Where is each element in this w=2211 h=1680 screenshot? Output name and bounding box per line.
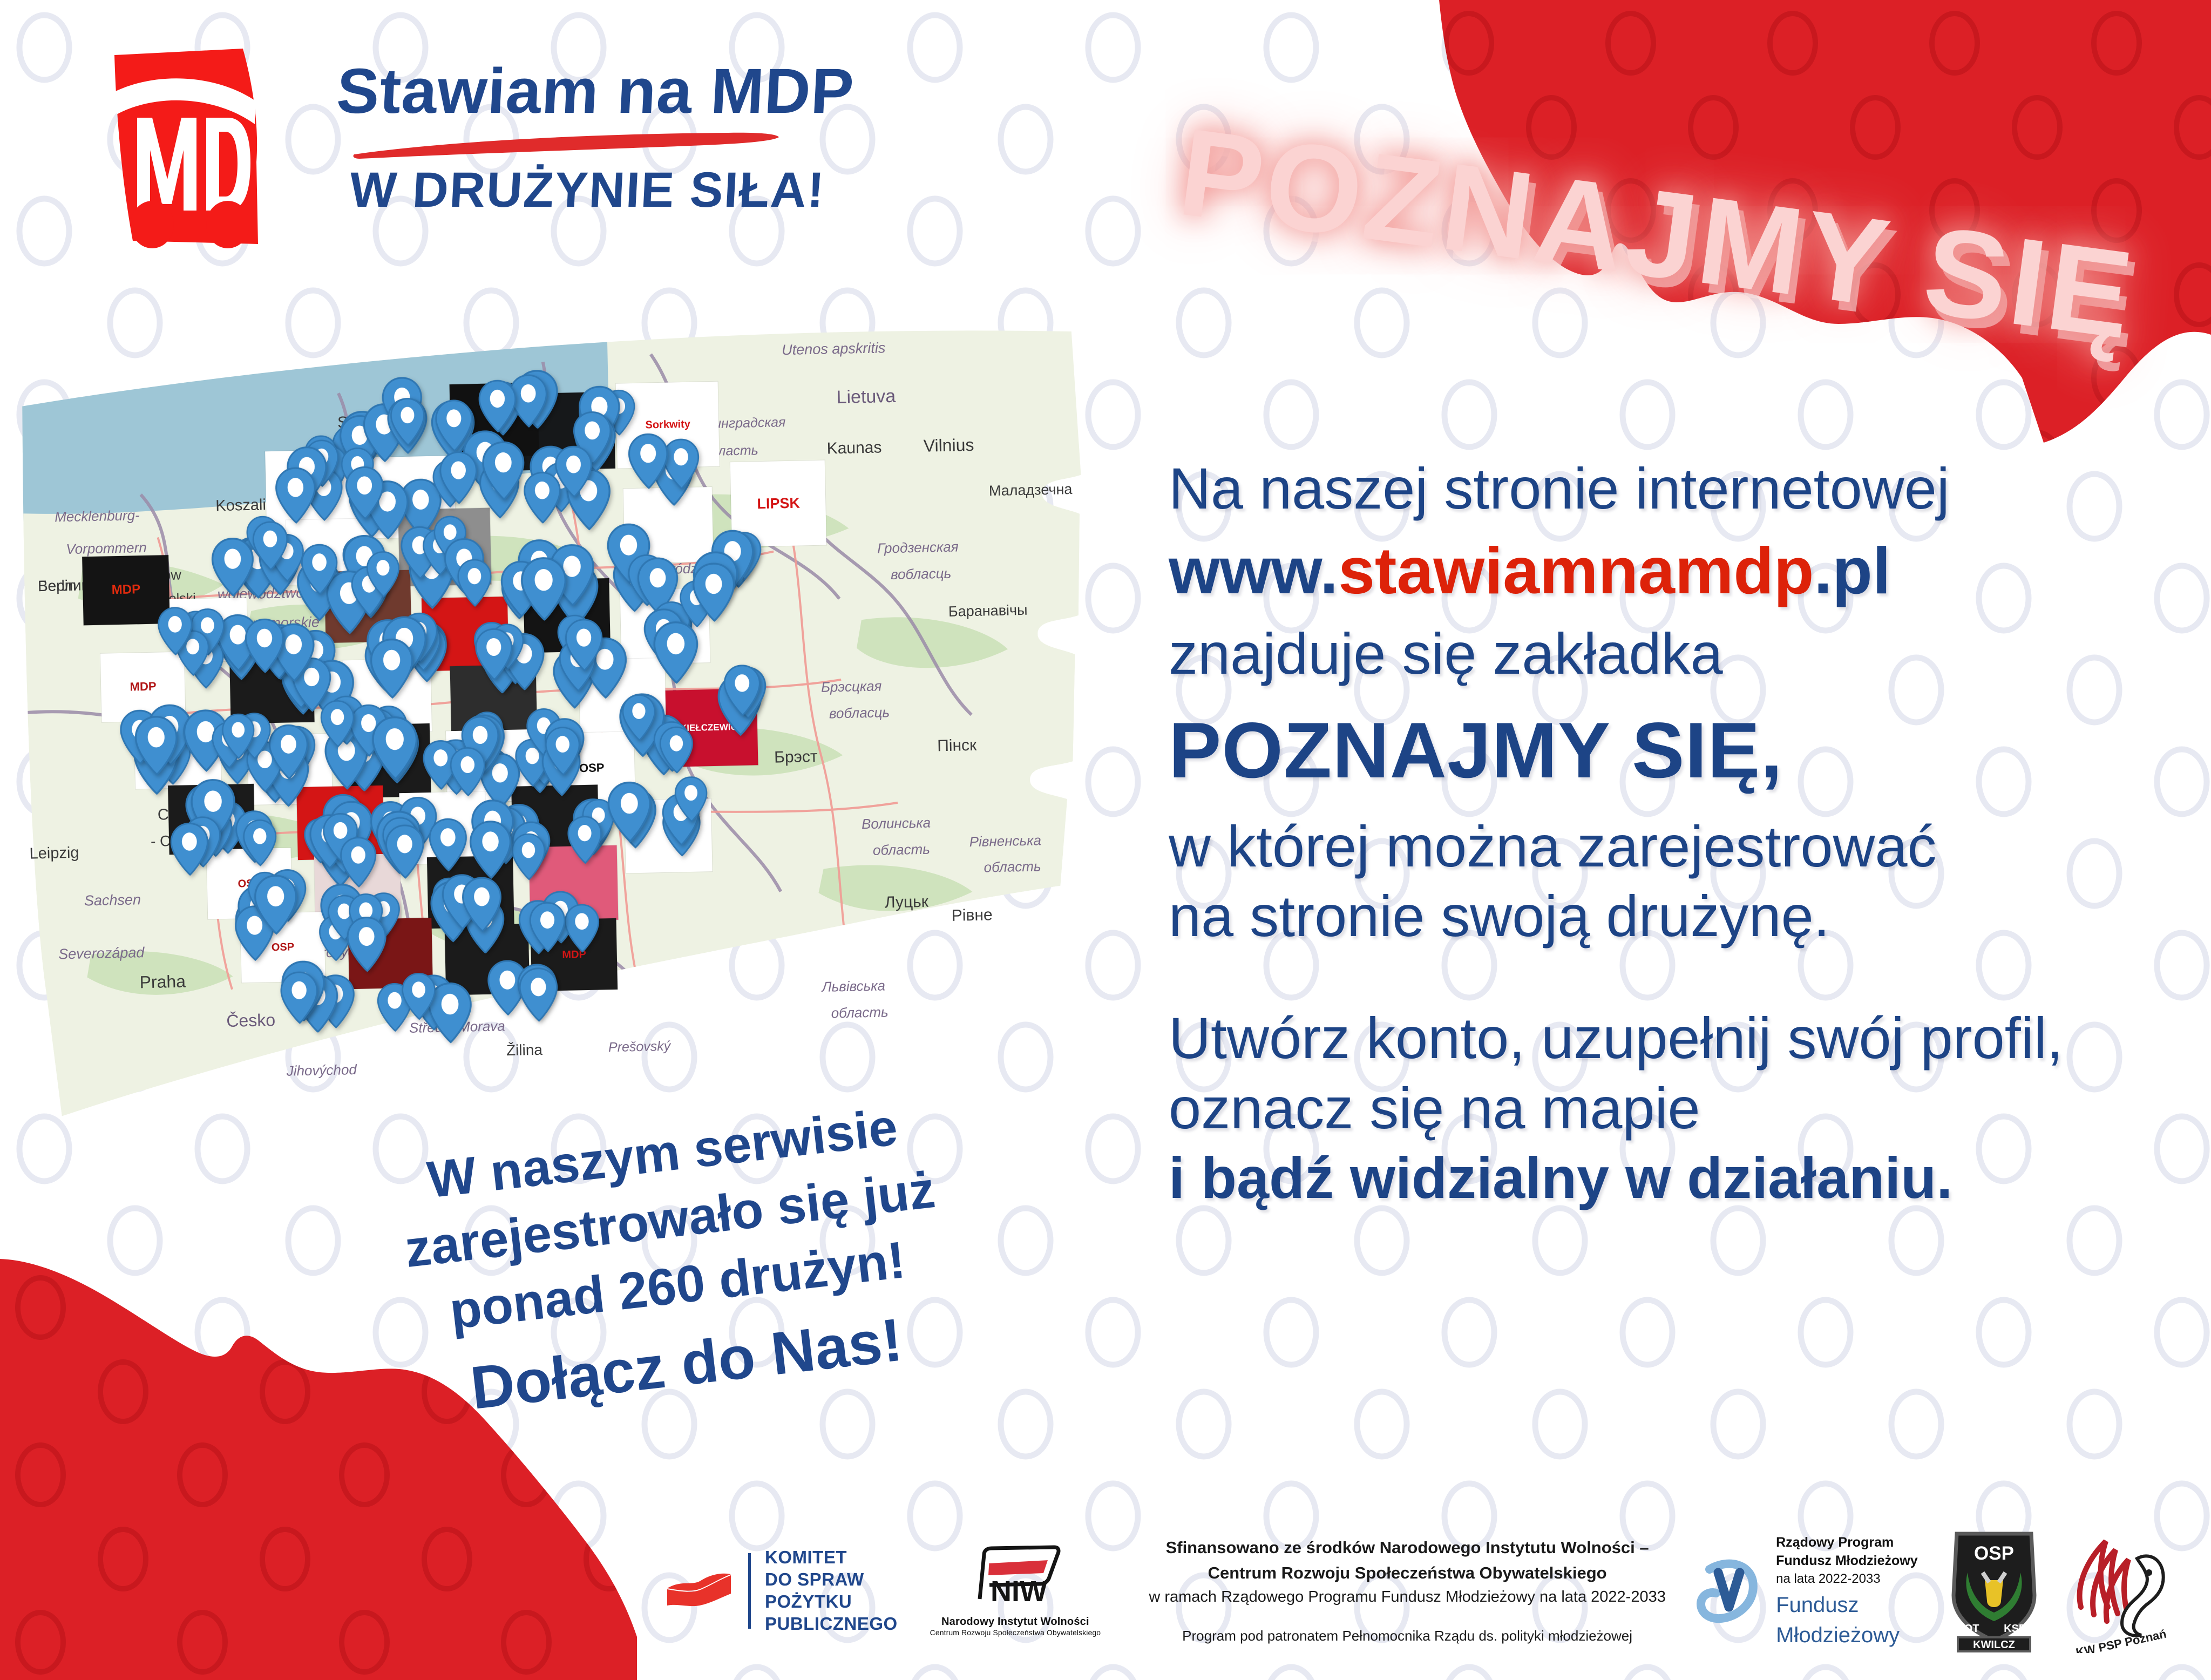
svg-text:KWILCZ: KWILCZ bbox=[1973, 1639, 2015, 1651]
map-pin[interactable] bbox=[659, 726, 694, 774]
map-pin[interactable] bbox=[477, 379, 518, 432]
psp-eagle-flame-icon: KW PSP Poznań bbox=[2068, 1526, 2176, 1653]
svg-text:OSP: OSP bbox=[1974, 1543, 2014, 1564]
map-pin[interactable] bbox=[621, 694, 657, 741]
map-pin[interactable] bbox=[369, 638, 415, 699]
map-pin[interactable] bbox=[345, 916, 388, 973]
map-pin[interactable] bbox=[319, 700, 355, 748]
map-pin[interactable] bbox=[627, 432, 669, 489]
map-pin[interactable] bbox=[365, 551, 401, 598]
svg-text:JOT: JOT bbox=[1958, 1623, 1979, 1635]
map-pin[interactable] bbox=[544, 726, 581, 776]
map-pin[interactable] bbox=[652, 620, 700, 684]
map-pin[interactable] bbox=[370, 716, 419, 781]
map-pin[interactable] bbox=[221, 713, 256, 760]
fm-l5: Młodzieżowy bbox=[1776, 1622, 1918, 1648]
map-pin[interactable] bbox=[169, 822, 209, 876]
logo-fundusz-mlodziezowy: Rządowy Program Fundusz Młodzieżowy na l… bbox=[1693, 1534, 1918, 1648]
map-pin[interactable] bbox=[722, 664, 762, 716]
map-pins-layer[interactable] bbox=[13, 313, 1104, 1144]
fundusz-label: Rządowy Program Fundusz Młodzieżowy na l… bbox=[1776, 1534, 1918, 1648]
fm-l2: Fundusz Młodzieżowy bbox=[1776, 1552, 1918, 1570]
kdsp-l1: KOMITET bbox=[765, 1547, 898, 1569]
fm-l4: Fundusz bbox=[1776, 1592, 1918, 1618]
map-pin[interactable] bbox=[528, 902, 566, 953]
page-title-glow: POZNAJMY SIĘ bbox=[1171, 100, 2143, 367]
map-pin[interactable] bbox=[674, 776, 709, 823]
map-pin[interactable] bbox=[280, 971, 320, 1024]
map-pin[interactable] bbox=[389, 397, 426, 446]
map-pin[interactable] bbox=[268, 723, 310, 780]
map-pin[interactable] bbox=[691, 562, 737, 622]
map-pin[interactable] bbox=[252, 521, 289, 571]
map-pin[interactable] bbox=[461, 876, 503, 932]
map-pin[interactable] bbox=[242, 819, 278, 866]
map-pin[interactable] bbox=[474, 627, 514, 681]
url-prefix: www. bbox=[1169, 534, 1338, 607]
map-pin[interactable] bbox=[274, 466, 317, 524]
url-domain: stawiamnamdp bbox=[1338, 534, 1814, 607]
copy-line-5: na stronie swoją drużynę. bbox=[1169, 881, 2119, 951]
mdp-logo-icon bbox=[81, 32, 313, 254]
kdsp-l2: DO SPRAW bbox=[765, 1569, 898, 1591]
brand-underline-brush bbox=[350, 131, 782, 160]
header-brand: Stawiam na MDP W DRUŻYNIE SIŁA! bbox=[81, 32, 854, 254]
svg-text:KSRG: KSRG bbox=[2004, 1623, 2035, 1635]
copy-line-8: i bądź widzialny w działaniu. bbox=[1169, 1143, 2119, 1213]
fm-l3: na lata 2022-2033 bbox=[1776, 1570, 1918, 1588]
copy-spacer bbox=[1169, 951, 2119, 1003]
funding-line-2: Centrum Rozwoju Społeczeństwa Obywatelsk… bbox=[1143, 1561, 1672, 1586]
copy-heading: POZNAJMY SIĘ, bbox=[1169, 703, 2119, 797]
copy-line-3: znajduje się zakładka bbox=[1169, 619, 2119, 689]
kdsp-l3: POŻYTKU bbox=[765, 1591, 898, 1613]
map-pin[interactable] bbox=[567, 815, 603, 864]
map-pin[interactable] bbox=[157, 606, 194, 656]
niw-mark-icon: NIW bbox=[968, 1545, 1062, 1610]
copy-line-4: w której można zarejestrować bbox=[1169, 811, 2119, 882]
copy-line-1: Na naszej stronie internetowej bbox=[1169, 453, 2119, 524]
komitet-label: KOMITET DO SPRAW POŻYTKU PUBLICZNEGO bbox=[765, 1547, 898, 1635]
map-pin[interactable] bbox=[606, 781, 653, 843]
map-pin[interactable] bbox=[554, 445, 594, 498]
map-pin[interactable] bbox=[519, 556, 568, 621]
funding-statement: Sfinansowano ze środków Narodowego Insty… bbox=[1143, 1535, 1672, 1647]
kdsp-l4: PUBLICZNEGO bbox=[765, 1613, 898, 1635]
map-pin[interactable] bbox=[300, 543, 338, 595]
map-pin[interactable] bbox=[244, 618, 286, 673]
logo-niw: NIW Narodowy Instytut Wolności Centrum R… bbox=[930, 1545, 1101, 1637]
divider bbox=[748, 1553, 751, 1629]
map-pin[interactable] bbox=[384, 824, 426, 879]
osp-shield-icon: OSP JOT KSRG KWILCZ bbox=[1943, 1526, 2045, 1653]
polish-flag-ribbon-icon bbox=[664, 1566, 734, 1617]
logo-osp-kwilcz: OSP JOT KSRG KWILCZ bbox=[1943, 1526, 2045, 1656]
map-pin[interactable] bbox=[457, 558, 493, 607]
niw-sub-2: Centrum Rozwoju Społeczeństwa Obywatelsk… bbox=[930, 1628, 1101, 1637]
map-pin[interactable] bbox=[401, 972, 437, 1020]
footer-logo-bar: KOMITET DO SPRAW POŻYTKU PUBLICZNEGO NIW… bbox=[0, 1502, 2211, 1680]
svg-text:NIW: NIW bbox=[991, 1575, 1047, 1608]
brand-subtitle: W DRUŻYNIE SIŁA! bbox=[349, 165, 783, 215]
fm-l1: Rządowy Program bbox=[1776, 1534, 1918, 1552]
map-pin[interactable] bbox=[449, 747, 486, 797]
copy-line-6: Utwórz konto, uzupełnij swój profil, bbox=[1169, 1003, 2119, 1073]
map-pin[interactable] bbox=[518, 967, 559, 1022]
right-copy-column: Na naszej stronie internetowej www.stawi… bbox=[1169, 453, 2119, 1213]
map-collage[interactable]: SłupskKoszalinMecklenburg-Vorpommernwoje… bbox=[13, 313, 1104, 1144]
map-pin[interactable] bbox=[134, 715, 180, 776]
logo-kw-psp-poznan: KW PSP Poznań bbox=[2068, 1526, 2176, 1656]
funding-line-1: Sfinansowano ze środków Narodowego Insty… bbox=[1143, 1535, 1672, 1561]
url-tld: .pl bbox=[1814, 534, 1890, 607]
brand-title: Stawiam na MDP bbox=[335, 59, 856, 123]
map-pin[interactable] bbox=[253, 874, 299, 935]
niw-sub-1: Narodowy Instytut Wolności bbox=[930, 1616, 1101, 1628]
map-pin[interactable] bbox=[428, 818, 469, 872]
map-pin[interactable] bbox=[481, 441, 526, 502]
fundusz-v-icon bbox=[1693, 1554, 1766, 1627]
map-pin[interactable] bbox=[563, 903, 600, 953]
map-pin[interactable] bbox=[511, 833, 546, 881]
copy-line-7: oznacz się na mapie bbox=[1169, 1073, 2119, 1143]
map-pin[interactable] bbox=[438, 451, 479, 505]
map-pin[interactable] bbox=[564, 618, 604, 672]
website-url[interactable]: www.stawiamnamdp.pl bbox=[1169, 531, 2119, 610]
map-pin[interactable] bbox=[469, 820, 513, 879]
funding-line-3: w ramach Rządowego Programu Fundusz Młod… bbox=[1143, 1586, 1672, 1609]
logo-komitet-pozytku: KOMITET DO SPRAW POŻYTKU PUBLICZNEGO bbox=[664, 1547, 898, 1635]
funding-line-4: Program pod patronatem Pełnomocnika Rząd… bbox=[1143, 1625, 1672, 1647]
map-pin[interactable] bbox=[344, 466, 385, 520]
svg-text:KW PSP Poznań: KW PSP Poznań bbox=[2074, 1627, 2167, 1653]
